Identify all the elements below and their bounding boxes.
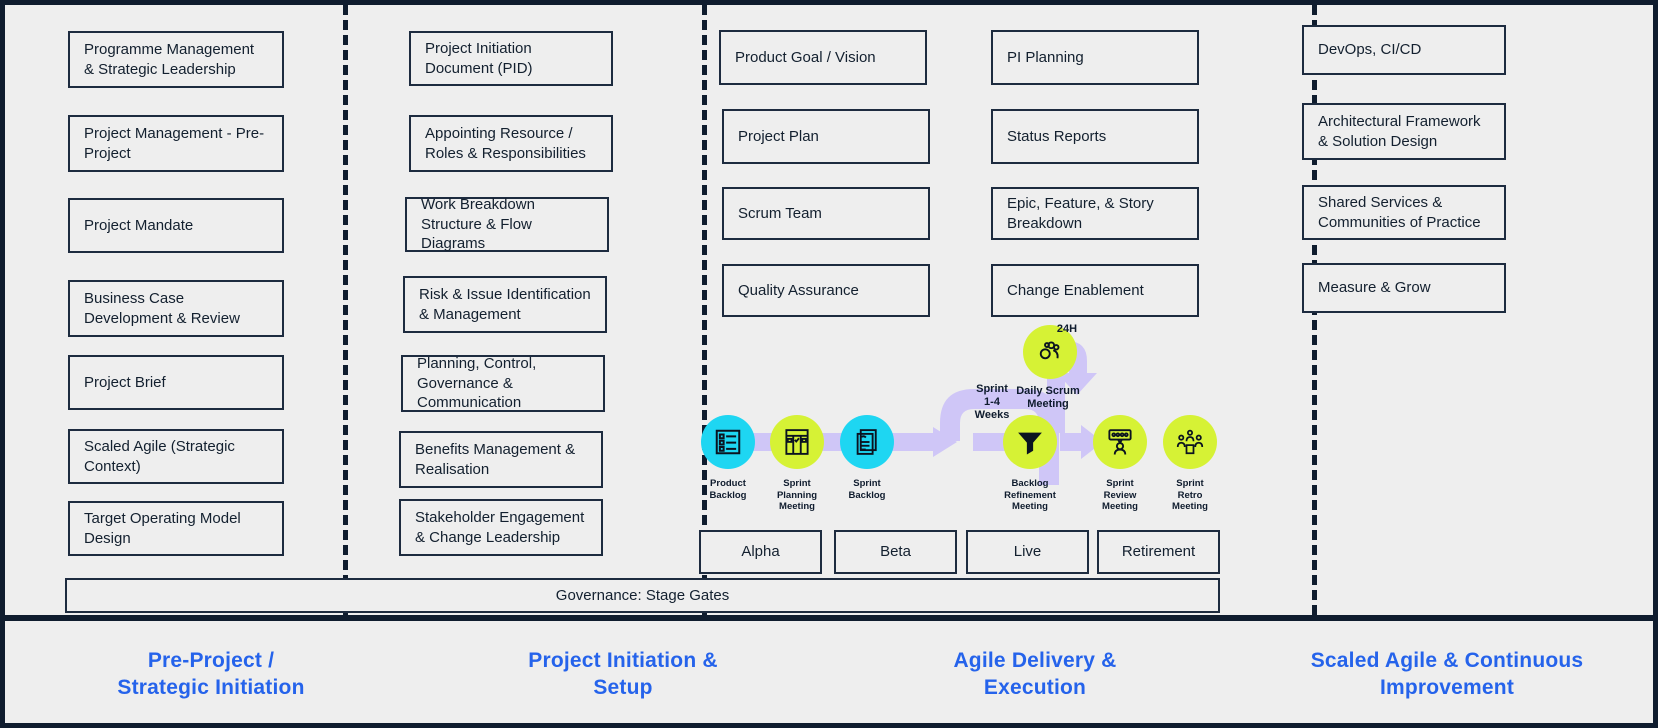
node-product-backlog[interactable] <box>701 415 755 469</box>
card-scaled-agile-strategic-context[interactable]: Scaled Agile (Strategic Context) <box>68 429 284 484</box>
card-label: Status Reports <box>1007 127 1106 147</box>
card-epic-feature-story-breakdown[interactable]: Epic, Feature, & Story Breakdown <box>991 187 1199 240</box>
card-label: Project Brief <box>84 373 166 393</box>
annotation-24h: 24H <box>1045 323 1089 336</box>
footer-phase-agile-delivery[interactable]: Agile Delivery &Execution <box>829 621 1241 728</box>
card-label: Planning, Control, Governance & Communic… <box>417 354 589 413</box>
footer-label: Agile Delivery &Execution <box>953 648 1116 701</box>
card-pid[interactable]: Project Initiation Document (PID) <box>409 31 613 86</box>
card-label: Stakeholder Engagement & Change Leadersh… <box>415 508 587 548</box>
card-label: Change Enablement <box>1007 281 1144 301</box>
card-label: Programme Management & Strategic Leaders… <box>84 40 268 80</box>
card-label: Project Plan <box>738 127 819 147</box>
diagram-body: Programme Management & Strategic Leaders… <box>5 5 1653 615</box>
card-label: Scaled Agile (Strategic Context) <box>84 437 268 477</box>
card-label: Architectural Framework & Solution Desig… <box>1318 112 1490 152</box>
lifecycle-label: Live <box>1014 542 1042 562</box>
funnel-icon <box>1015 427 1045 457</box>
backlog-list-icon <box>713 427 743 457</box>
card-devops-cicd[interactable]: DevOps, CI/CD <box>1302 25 1506 75</box>
card-project-mandate[interactable]: Project Mandate <box>68 198 284 253</box>
annotation-sprint-duration: Sprint1-4Weeks <box>961 383 1023 423</box>
card-target-operating-model[interactable]: Target Operating Model Design <box>68 501 284 556</box>
card-label: Quality Assurance <box>738 281 859 301</box>
card-benefits-management[interactable]: Benefits Management & Realisation <box>399 431 603 488</box>
card-programme-management[interactable]: Programme Management & Strategic Leaders… <box>68 31 284 88</box>
card-change-enablement[interactable]: Change Enablement <box>991 264 1199 317</box>
card-label: Epic, Feature, & Story Breakdown <box>1007 194 1183 234</box>
footer-phase-pre-project[interactable]: Pre-Project /Strategic Initiation <box>5 621 417 728</box>
card-work-breakdown-structure[interactable]: Work Breakdown Structure & Flow Diagrams <box>405 197 609 252</box>
documents-icon <box>852 427 882 457</box>
diagram-canvas: Programme Management & Strategic Leaders… <box>0 0 1658 728</box>
footer-phase-project-initiation[interactable]: Project Initiation &Setup <box>417 621 829 728</box>
card-label: Product Goal / Vision <box>735 48 876 68</box>
card-architectural-framework[interactable]: Architectural Framework & Solution Desig… <box>1302 103 1506 160</box>
lifecycle-box-alpha[interactable]: Alpha <box>699 530 822 574</box>
card-measure-grow[interactable]: Measure & Grow <box>1302 263 1506 313</box>
card-label: PI Planning <box>1007 48 1084 68</box>
footer-phase-scaled-agile[interactable]: Scaled Agile & Continuous Improvement <box>1241 621 1653 728</box>
phase-footer: Pre-Project /Strategic Initiation Projec… <box>5 615 1653 728</box>
lifecycle-box-beta[interactable]: Beta <box>834 530 957 574</box>
governance-label: Governance: Stage Gates <box>556 587 729 604</box>
card-pi-planning[interactable]: PI Planning <box>991 30 1199 85</box>
footer-label: Scaled Agile & Continuous Improvement <box>1241 648 1653 701</box>
node-sprint-planning[interactable] <box>770 415 824 469</box>
planning-board-icon <box>782 427 812 457</box>
card-label: Risk & Issue Identification & Management <box>419 285 591 325</box>
feedback-rating-icon <box>1105 427 1135 457</box>
lifecycle-label: Beta <box>880 542 911 562</box>
scrum-flow-diagram: ProductBacklog SprintPlanningMeeting <box>695 315 1235 540</box>
card-status-reports[interactable]: Status Reports <box>991 109 1199 164</box>
node-label-sprint-backlog: SprintBacklog <box>822 478 912 501</box>
node-label-sprint-retro: SprintRetroMeeting <box>1145 478 1235 513</box>
card-label: Scrum Team <box>738 204 822 224</box>
card-planning-control-governance[interactable]: Planning, Control, Governance & Communic… <box>401 355 605 412</box>
card-label: Project Management - Pre-Project <box>84 124 268 164</box>
card-project-brief[interactable]: Project Brief <box>68 355 284 410</box>
card-business-case[interactable]: Business Case Development & Review <box>68 280 284 337</box>
card-stakeholder-engagement[interactable]: Stakeholder Engagement & Change Leadersh… <box>399 499 603 556</box>
node-sprint-retro[interactable] <box>1163 415 1217 469</box>
lifecycle-box-retirement[interactable]: Retirement <box>1097 530 1220 574</box>
node-sprint-review[interactable] <box>1093 415 1147 469</box>
card-quality-assurance[interactable]: Quality Assurance <box>722 264 930 317</box>
card-appointing-resource[interactable]: Appointing Resource / Roles & Responsibi… <box>409 115 613 172</box>
card-risk-issue-management[interactable]: Risk & Issue Identification & Management <box>403 276 607 333</box>
card-label: Project Initiation Document (PID) <box>425 39 597 79</box>
card-product-goal-vision[interactable]: Product Goal / Vision <box>719 30 927 85</box>
footer-label: Project Initiation &Setup <box>528 648 718 701</box>
team-retro-icon <box>1175 427 1205 457</box>
node-label-backlog-refinement: BacklogRefinementMeeting <box>985 478 1075 513</box>
node-sprint-backlog[interactable] <box>840 415 894 469</box>
card-label: Measure & Grow <box>1318 278 1431 298</box>
card-scrum-team[interactable]: Scrum Team <box>722 187 930 240</box>
column-divider-1 <box>343 5 348 615</box>
card-label: Appointing Resource / Roles & Responsibi… <box>425 124 597 164</box>
node-backlog-refinement[interactable] <box>1003 415 1057 469</box>
lifecycle-label: Alpha <box>741 542 779 562</box>
card-project-management-pre-project[interactable]: Project Management - Pre-Project <box>68 115 284 172</box>
card-label: Benefits Management & Realisation <box>415 440 587 480</box>
governance-stage-gates-bar[interactable]: Governance: Stage Gates <box>65 578 1220 613</box>
card-label: Business Case Development & Review <box>84 289 268 329</box>
card-label: Shared Services & Communities of Practic… <box>1318 193 1490 233</box>
lifecycle-box-live[interactable]: Live <box>966 530 1089 574</box>
card-label: Project Mandate <box>84 216 193 236</box>
people-group-icon <box>1035 337 1065 367</box>
card-label: DevOps, CI/CD <box>1318 40 1421 60</box>
footer-label: Pre-Project /Strategic Initiation <box>117 648 304 701</box>
card-shared-services[interactable]: Shared Services & Communities of Practic… <box>1302 185 1506 240</box>
lifecycle-label: Retirement <box>1122 542 1195 562</box>
card-label: Work Breakdown Structure & Flow Diagrams <box>421 195 593 254</box>
card-project-plan[interactable]: Project Plan <box>722 109 930 164</box>
card-label: Target Operating Model Design <box>84 509 268 549</box>
